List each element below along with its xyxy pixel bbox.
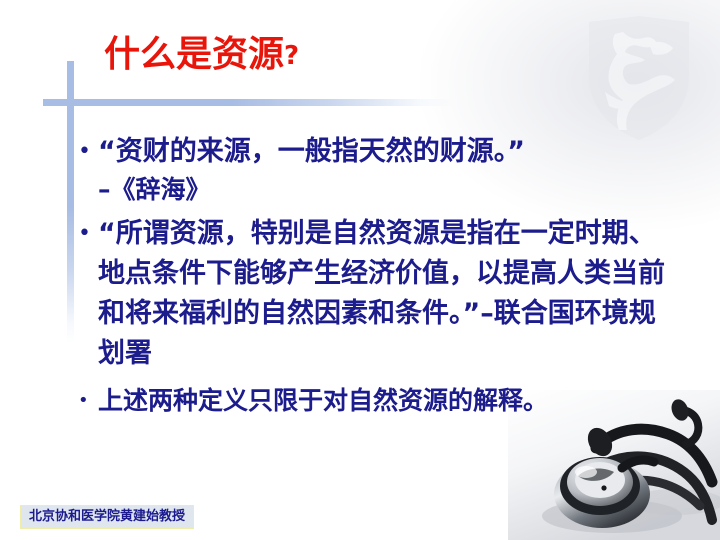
horizontal-accent-rule — [43, 99, 453, 106]
bullet-text-1-source: –《辞海》 — [98, 172, 678, 208]
bullet-marker-icon: • — [78, 382, 98, 420]
slide-title: 什么是资源? — [104, 36, 299, 75]
vertical-accent-rule — [67, 61, 74, 343]
bullet-item-2: • “所谓资源，特别是自然资源是指在一定时期、地点条件下能够产生经济价值，以提高… — [78, 214, 678, 374]
bullet-text-2: “所谓资源，特别是自然资源是指在一定时期、地点条件下能够产生经济价值，以提高人类… — [98, 214, 678, 374]
bullet-item-1: • “资财的来源，一般指天然的财源。” –《辞海》 — [78, 132, 678, 208]
bullet-item-3: • 上述两种定义只限于对自然资源的解释。 — [78, 382, 678, 420]
slide-title-question-mark: ? — [284, 41, 299, 71]
bullet-text-1-main: “资财的来源，一般指天然的财源。” — [98, 132, 678, 172]
slide-canvas: 什么是资源? • “资财的来源，一般指天然的财源。” –《辞海》 • “所谓资源… — [0, 0, 720, 540]
slide-body: • “资财的来源，一般指天然的财源。” –《辞海》 • “所谓资源，特别是自然资… — [78, 132, 678, 420]
bullet-marker-icon: • — [78, 132, 98, 172]
footer-attribution-box: 北京协和医学院黄建始教授 — [20, 505, 194, 529]
bullet-text-3: 上述两种定义只限于对自然资源的解释。 — [98, 382, 678, 420]
slide-title-text: 什么是资源 — [104, 34, 284, 75]
shield-crest-watermark-icon — [583, 14, 695, 142]
bullet-text-1: “资财的来源，一般指天然的财源。” –《辞海》 — [98, 132, 678, 208]
bullet-marker-icon: • — [78, 214, 98, 254]
